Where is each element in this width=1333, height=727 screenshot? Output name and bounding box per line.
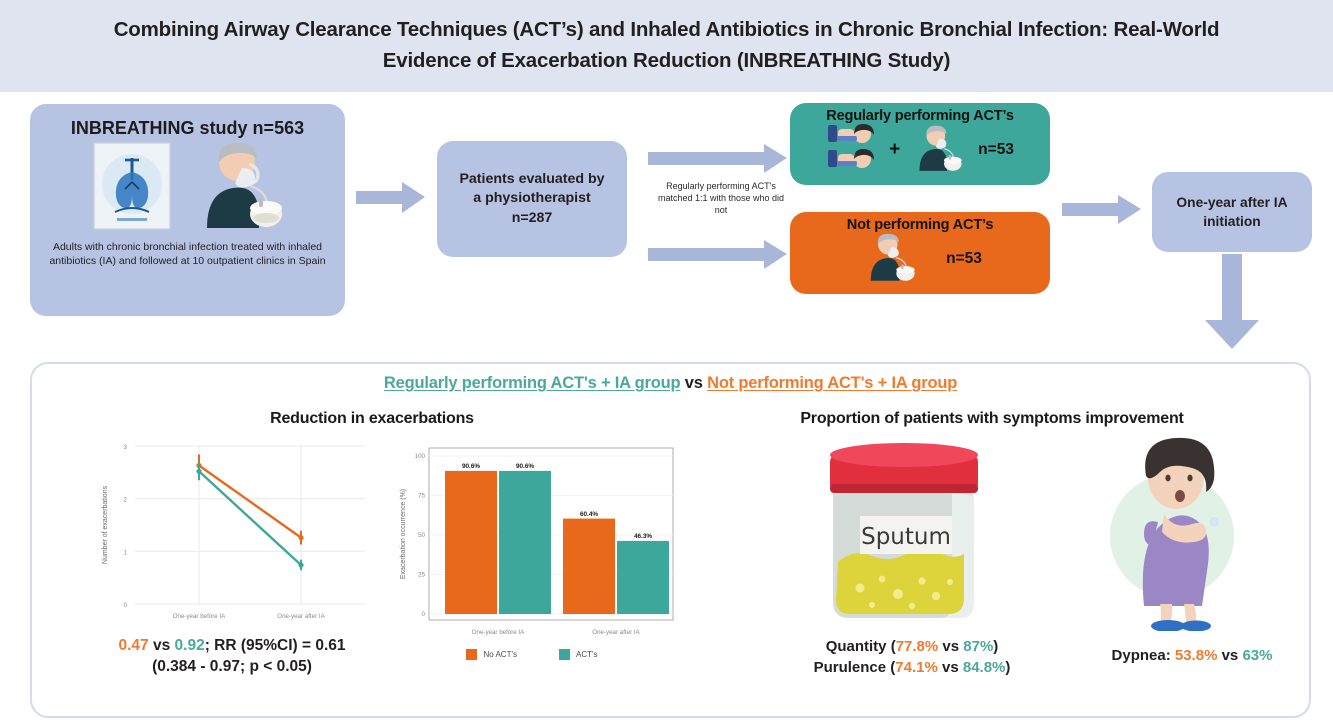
study-box: INBREATHING study n=563 [30,104,345,316]
elderly-patient-nebulizer-icon [187,140,283,235]
lungs-logo-icon [93,142,171,235]
arrow-physio-to-noact [648,240,788,270]
plus-sign: + [889,139,900,161]
act-group-artwork: + n=53 [798,125,1042,175]
legend-label-no-acts: No ACT's [483,650,517,659]
sputum-stats: Quantity (77.8% vs 87%) Purulence (74.1%… [732,636,1092,678]
svg-text:25: 25 [418,572,425,579]
svg-text:90.6%: 90.6% [462,463,480,470]
followup-box: One-year after IA initiation [1152,172,1312,252]
svg-text:One-year after IA: One-year after IA [592,629,640,636]
bar-chart-legend: No ACT's ACT's [387,649,677,660]
legend-label-acts: ACT's [576,650,598,659]
followup-line1: One-year after IA [1176,195,1287,210]
study-caption: Adults with chronic bronchial infection … [42,240,333,268]
dyspnea-label: Dypnea: [1112,647,1175,664]
svg-text:Exacerbation occurrence (%): Exacerbation occurrence (%) [400,489,407,579]
quantity-orange: 77.8% [896,638,939,655]
physio-line2: a physiotherapist [473,189,590,209]
svg-text:One-year before IA: One-year before IA [472,629,525,636]
dyspnea-orange: 53.8% [1175,647,1218,664]
matching-note: Regularly performing ACT's matched 1:1 w… [655,181,787,217]
comparison-left-label: Regularly performing ACT's + IA group [384,374,680,392]
title-band: Combining Airway Clearance Techniques (A… [0,0,1333,92]
act-group-box: Regularly performing ACT’s [790,103,1050,185]
exacerbation-line-chart: 3 2 1 0 Number of exacerbations One-year… [87,436,377,636]
quantity-close: ) [993,638,998,655]
line-chart-stats: 0.47 vs 0.92; RR (95%CI) = 0.61 (0.384 -… [52,636,412,678]
svg-text:60.4%: 60.4% [580,511,598,518]
followup-line2: initiation [1203,214,1260,229]
svg-text:50: 50 [418,532,425,539]
stat-teal-value: 0.92 [175,637,205,654]
physio-box: Patients evaluated by a physiotherapist … [437,141,627,257]
svg-text:1: 1 [124,549,128,556]
quantity-teal: 87% [963,638,993,655]
results-panel: Regularly performing ACT's + IA group vs… [30,362,1311,718]
study-title: INBREATHING study n=563 [42,118,333,139]
coughing-woman-icon [1072,426,1282,631]
study-artwork [42,143,333,235]
stat-rr: ; RR (95%CI) = 0.61 [205,637,346,654]
legend-item-no-acts: No ACT's [466,649,517,660]
physio-line1: Patients evaluated by [459,170,604,190]
svg-text:75: 75 [418,493,425,500]
noact-group-n: n=53 [946,250,982,268]
dyspnea-teal: 63% [1242,647,1272,664]
stat-ci: (0.384 - 0.97; p < 0.05) [152,658,312,675]
svg-text:Number of exacerbations: Number of exacerbations [102,485,109,564]
noact-group-box: Not performing ACT’s n=53 [790,212,1050,294]
dyspnea-vs: vs [1217,647,1242,664]
act-group-n: n=53 [978,141,1014,159]
quantity-vs: vs [938,638,963,655]
purulence-orange: 74.1% [895,659,938,676]
arrow-study-to-physio [356,182,426,214]
dyspnea-stats: Dypnea: 53.8% vs 63% [1072,647,1312,664]
arrow-followup-to-results [1204,254,1260,350]
legend-swatch-orange [466,649,477,660]
elderly-patient-nebulizer-icon [907,124,967,177]
page-title: Combining Airway Clearance Techniques (A… [107,15,1227,77]
legend-item-acts: ACT's [559,649,598,660]
exacerbation-bar-chart: 100 75 50 25 0 Exacerbation occurrence (… [387,444,677,649]
svg-text:One-year after IA: One-year after IA [277,613,325,620]
svg-text:46.3%: 46.3% [634,533,652,540]
comparison-header: Regularly performing ACT's + IA group vs… [32,374,1309,393]
svg-text:One-year before IA: One-year before IA [173,613,226,620]
quantity-label: Quantity ( [826,638,896,655]
purulence-teal: 84.8% [963,659,1006,676]
comparison-right-label: Not performing ACT's + IA group [707,374,957,392]
purulence-label: Purulence ( [814,659,896,676]
sputum-jar-icon: Sputum [802,434,1032,624]
purulence-close: ) [1005,659,1010,676]
comparison-vs: vs [685,374,703,392]
purulence-vs: vs [938,659,963,676]
legend-swatch-teal [559,649,570,660]
arrow-physio-to-act [648,144,788,174]
physio-line3: n=287 [512,209,553,229]
jar-label: Sputum [861,524,951,550]
arrow-act-to-followup [1062,195,1142,225]
left-section-title: Reduction in exacerbations [62,410,682,428]
stat-vs: vs [153,637,170,654]
svg-text:0: 0 [422,611,426,618]
svg-text:100: 100 [415,453,426,460]
stat-orange-value: 0.47 [118,637,148,654]
elderly-patient-nebulizer-icon [858,232,920,287]
svg-text:0: 0 [124,602,128,609]
noact-group-artwork: n=53 [798,233,1042,285]
svg-text:3: 3 [124,444,128,451]
svg-text:2: 2 [124,497,128,504]
chest-physiotherapy-icon [826,123,882,178]
svg-text:90.6%: 90.6% [516,463,534,470]
